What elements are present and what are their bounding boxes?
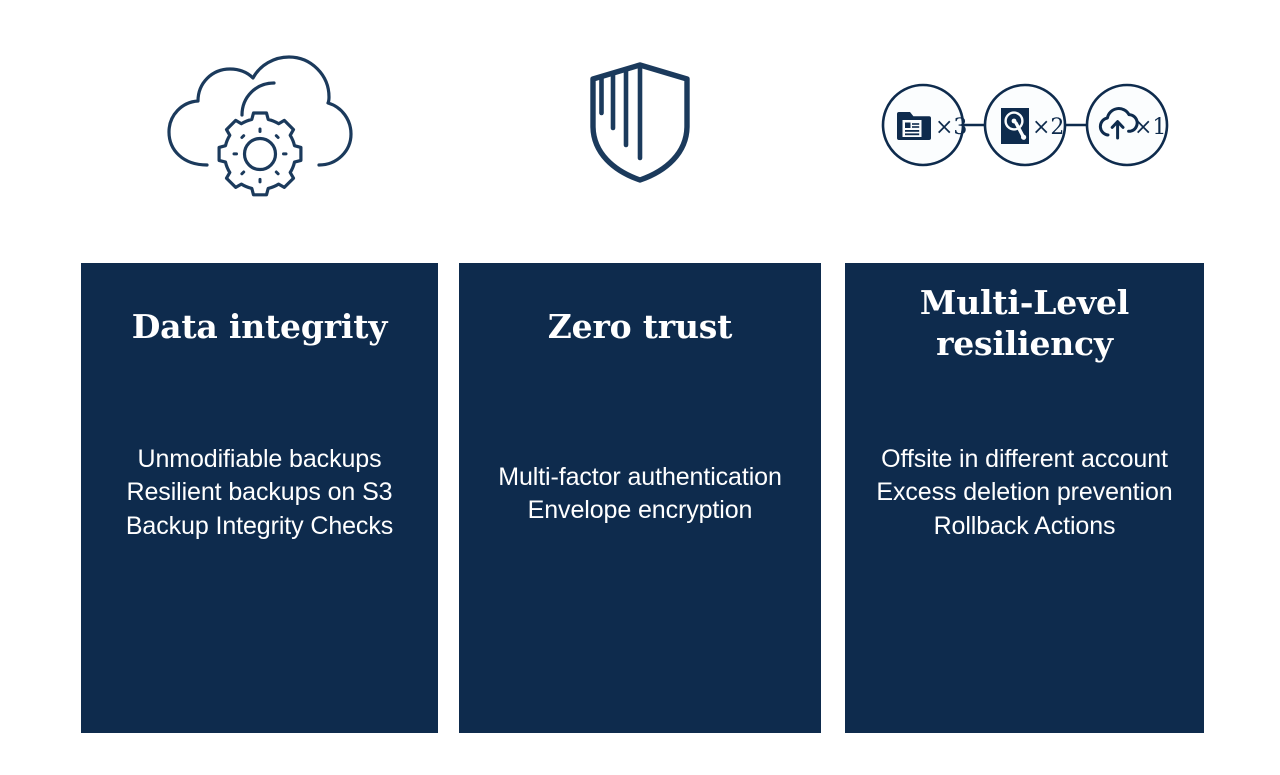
panel-title-multi-level-resiliency: Multi-Level resiliency bbox=[835, 283, 1214, 365]
cloud-gear-icon bbox=[160, 45, 360, 205]
backup-node-media: ×2 bbox=[985, 85, 1065, 165]
panel-body-zero-trust: Multi-factor authentication Envelope enc… bbox=[447, 461, 833, 528]
icon-slot-multi-level-resiliency: ×3 ×2 bbox=[845, 0, 1204, 250]
icon-slot-zero-trust bbox=[459, 0, 821, 250]
panel-multi-level-resiliency: Multi-Level resiliency Offsite in differ… bbox=[845, 263, 1204, 733]
icon-row: ×3 ×2 bbox=[0, 0, 1280, 250]
icon-slot-data-integrity bbox=[81, 0, 438, 250]
three-two-one-backup-icon: ×3 ×2 bbox=[879, 83, 1171, 167]
panel-body-multi-level-resiliency: Offsite in different account Excess dele… bbox=[833, 443, 1216, 543]
slide-root: ×3 ×2 bbox=[0, 0, 1280, 775]
copies-multiplier-label: ×3 bbox=[935, 115, 967, 140]
backup-node-copies: ×3 bbox=[883, 85, 967, 165]
backup-node-offsite: ×1 bbox=[1087, 85, 1167, 165]
hard-disk-icon bbox=[1001, 108, 1029, 144]
offsite-multiplier-label: ×1 bbox=[1134, 115, 1166, 140]
panel-zero-trust: Zero trust Multi-factor authentication E… bbox=[459, 263, 821, 733]
shield-icon bbox=[588, 60, 692, 185]
media-multiplier-label: ×2 bbox=[1032, 115, 1064, 140]
panel-title-data-integrity: Data integrity bbox=[71, 307, 448, 348]
panel-title-zero-trust: Zero trust bbox=[449, 307, 831, 348]
panel-data-integrity: Data integrity Unmodifiable backups Resi… bbox=[81, 263, 438, 733]
panel-body-data-integrity: Unmodifiable backups Resilient backups o… bbox=[69, 443, 450, 543]
